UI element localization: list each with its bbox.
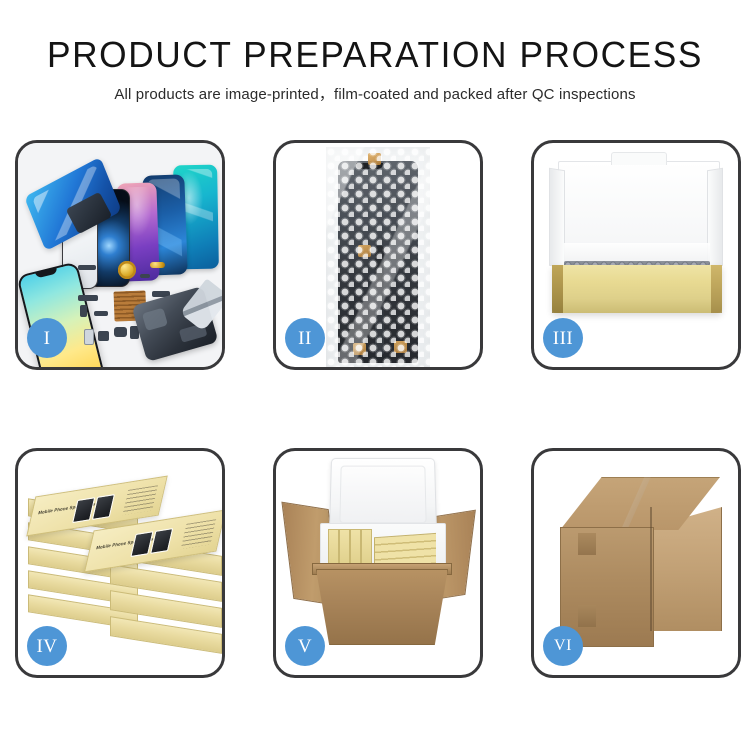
step-badge-1: I xyxy=(27,318,67,358)
part-vibrator xyxy=(98,331,109,341)
plastic-sheen xyxy=(326,147,430,367)
process-step-grid: I II III xyxy=(15,140,741,678)
master-carton-body xyxy=(316,569,448,645)
foam-liner-top xyxy=(564,243,710,263)
step-badge-3: III xyxy=(543,318,583,358)
box-spec-lines-middle xyxy=(181,519,216,549)
part-flex-cable-3 xyxy=(94,311,108,316)
part-strip-1 xyxy=(78,265,96,270)
part-taptic-engine xyxy=(114,327,127,337)
page-header: PRODUCT PREPARATION PROCESS All products… xyxy=(0,0,750,104)
process-step-card-1[interactable]: I xyxy=(15,140,225,370)
bubble-wrap-bag xyxy=(326,147,430,367)
carton-tape-patch-upper xyxy=(578,533,596,555)
part-battery-connector xyxy=(84,329,94,345)
process-step-card-5[interactable]: V xyxy=(273,448,483,678)
process-step-card-2[interactable]: II xyxy=(273,140,483,370)
page-subtitle: All products are image-printed，film-coat… xyxy=(0,83,750,104)
part-strip-2 xyxy=(140,274,150,278)
carton-tape-patch-lower xyxy=(578,605,596,627)
box-art-screen-4 xyxy=(150,528,173,554)
box-art-screen-2 xyxy=(92,494,115,520)
process-step-card-6[interactable]: VI xyxy=(531,448,741,678)
part-flex-cable-1 xyxy=(78,295,98,301)
part-gold-connector xyxy=(150,262,165,268)
part-flex-cable-2 xyxy=(80,305,87,317)
process-step-card-4[interactable]: Mobile Phone Spare Parts Mobile Phone Sp… xyxy=(15,448,225,678)
step-badge-6: VI xyxy=(543,626,583,666)
carton-flap-left xyxy=(549,168,565,269)
speaker-module-icon xyxy=(118,261,136,279)
carton-base-cream xyxy=(552,265,722,313)
shipping-carton-corner-edge xyxy=(650,507,652,631)
box-spec-lines-top xyxy=(122,485,157,515)
page-title: PRODUCT PREPARATION PROCESS xyxy=(8,36,743,74)
step-badge-4: IV xyxy=(27,626,67,666)
step-badge-2: II xyxy=(285,318,325,358)
step-badge-5: V xyxy=(285,626,325,666)
process-step-card-3[interactable]: III xyxy=(531,140,741,370)
